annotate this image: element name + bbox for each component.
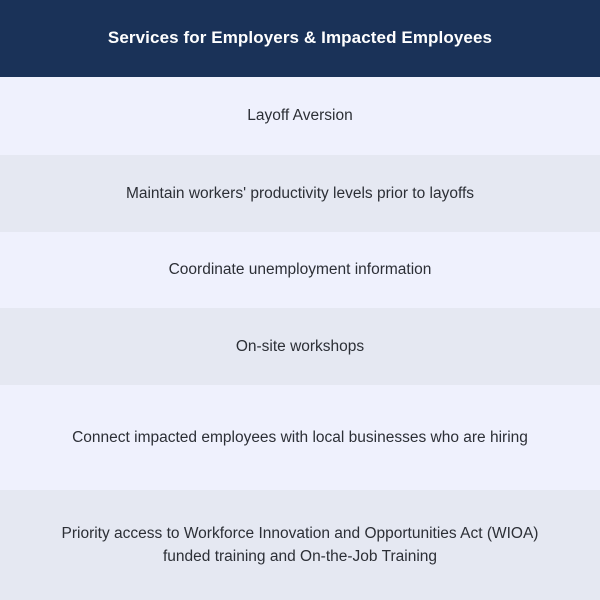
services-table: Services for Employers & Impacted Employ…	[0, 0, 600, 600]
table-row: Layoff Aversion	[0, 77, 600, 155]
service-item-label: On-site workshops	[236, 335, 364, 358]
service-item-label: Connect impacted employees with local bu…	[72, 426, 528, 449]
service-item-label: Priority access to Workforce Innovation …	[62, 522, 539, 569]
table-row: On-site workshops	[0, 308, 600, 385]
table-row: Priority access to Workforce Innovation …	[0, 490, 600, 600]
table-row: Coordinate unemployment information	[0, 232, 600, 308]
service-item-label: Layoff Aversion	[247, 104, 352, 127]
table-row: Maintain workers' productivity levels pr…	[0, 155, 600, 232]
table-header-title: Services for Employers & Impacted Employ…	[108, 27, 492, 49]
table-header: Services for Employers & Impacted Employ…	[0, 0, 600, 77]
table-row: Connect impacted employees with local bu…	[0, 385, 600, 490]
service-item-label: Maintain workers' productivity levels pr…	[126, 182, 474, 205]
service-item-label: Coordinate unemployment information	[169, 258, 432, 281]
